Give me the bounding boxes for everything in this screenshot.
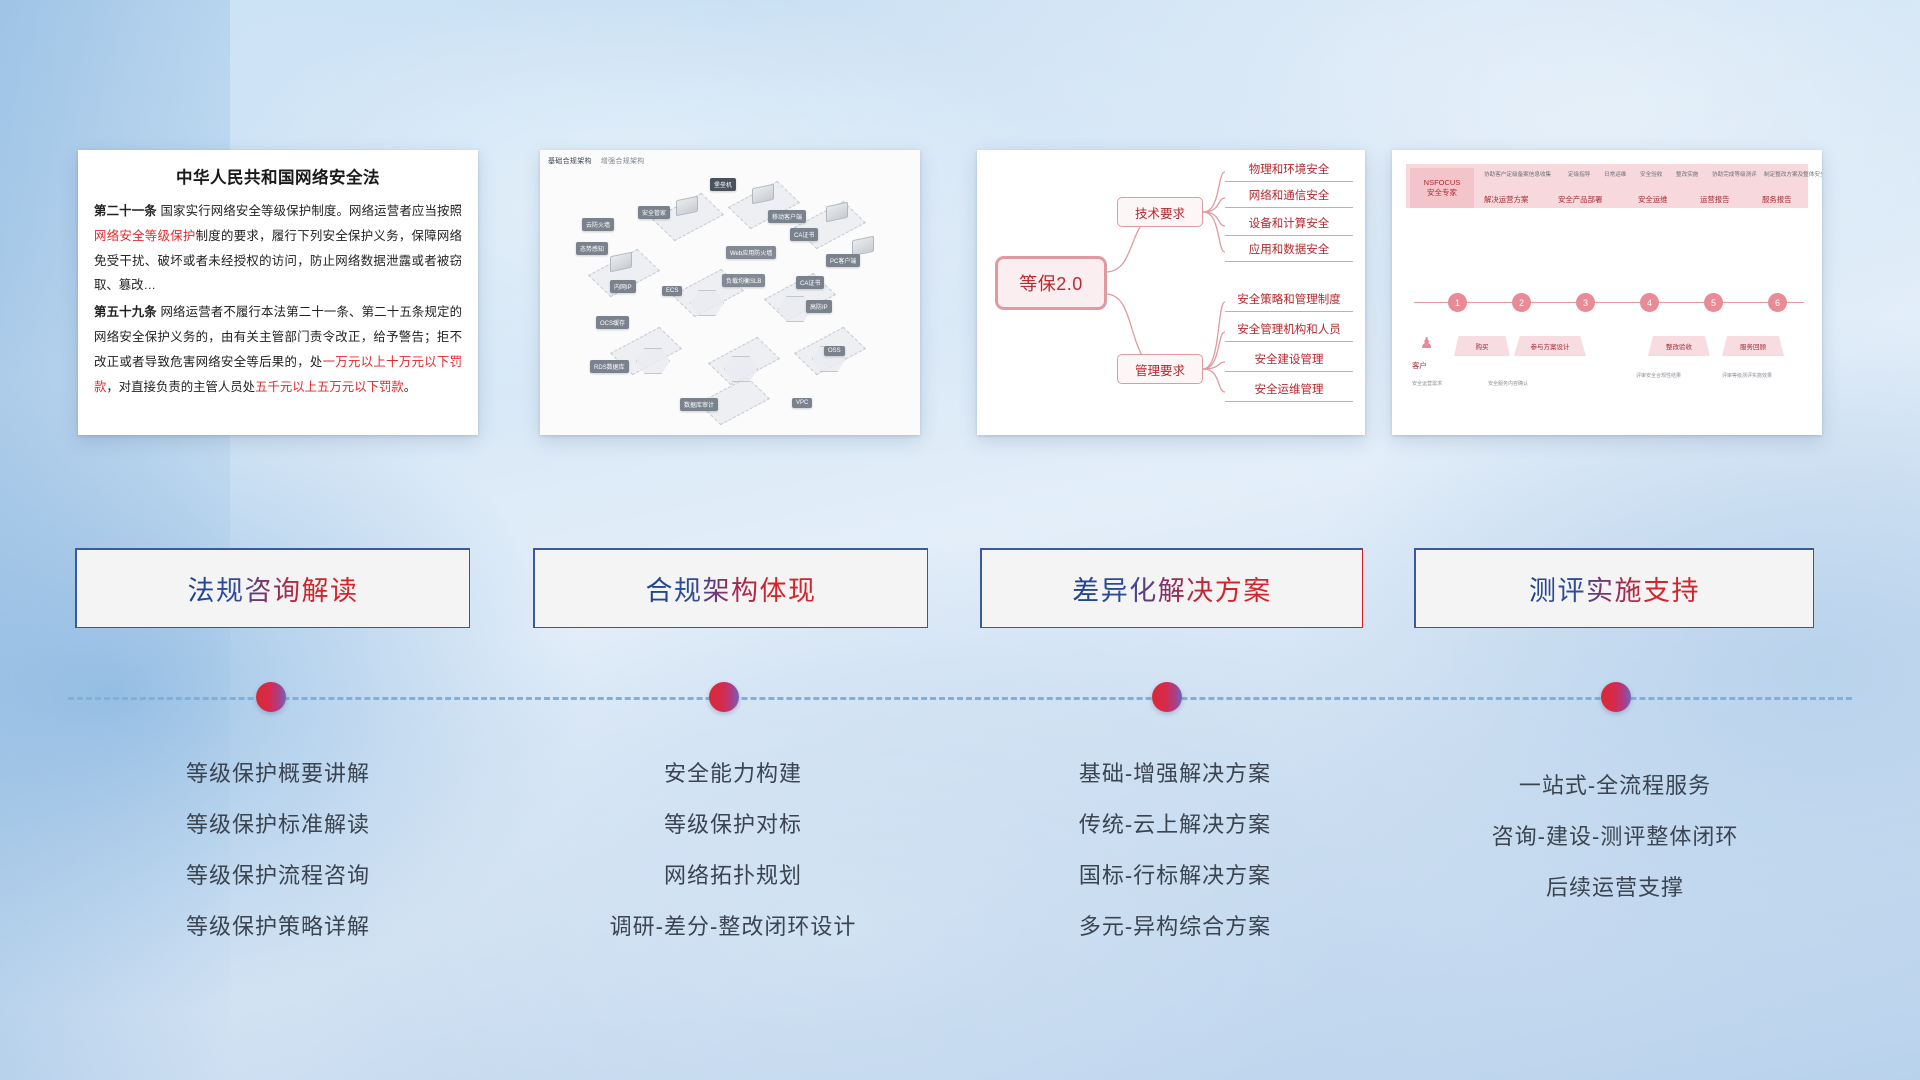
column-differentiated-solution: 基础-增强解决方案 传统-云上解决方案 国标-行标解决方案 多元-异构综合方案 xyxy=(975,748,1375,952)
list-item: 国标-行标解决方案 xyxy=(975,850,1375,901)
list-item: 一站式-全流程服务 xyxy=(1415,760,1815,811)
list-item: 等级保护对标 xyxy=(533,799,933,850)
list-item: 传统-云上解决方案 xyxy=(975,799,1375,850)
list-item: 等级保护策略详解 xyxy=(78,901,478,952)
list-item: 后续运营支撑 xyxy=(1415,862,1815,913)
column-assessment-support: 一站式-全流程服务 咨询-建设-测评整体闭环 后续运营支撑 xyxy=(1415,760,1815,913)
column-compliance-architecture: 安全能力构建 等级保护对标 网络拓扑规划 调研-差分-整改闭环设计 xyxy=(533,748,933,952)
list-item: 多元-异构综合方案 xyxy=(975,901,1375,952)
list-item: 网络拓扑规划 xyxy=(533,850,933,901)
list-item: 等级保护标准解读 xyxy=(78,799,478,850)
list-item: 咨询-建设-测评整体闭环 xyxy=(1415,811,1815,862)
list-item: 等级保护流程咨询 xyxy=(78,850,478,901)
list-item: 等级保护概要讲解 xyxy=(78,748,478,799)
list-item: 基础-增强解决方案 xyxy=(975,748,1375,799)
column-regulation-consulting: 等级保护概要讲解 等级保护标准解读 等级保护流程咨询 等级保护策略详解 xyxy=(78,748,478,952)
list-item: 调研-差分-整改闭环设计 xyxy=(533,901,933,952)
bullet-columns: 等级保护概要讲解 等级保护标准解读 等级保护流程咨询 等级保护策略详解 安全能力… xyxy=(0,0,1920,1080)
list-item: 安全能力构建 xyxy=(533,748,933,799)
